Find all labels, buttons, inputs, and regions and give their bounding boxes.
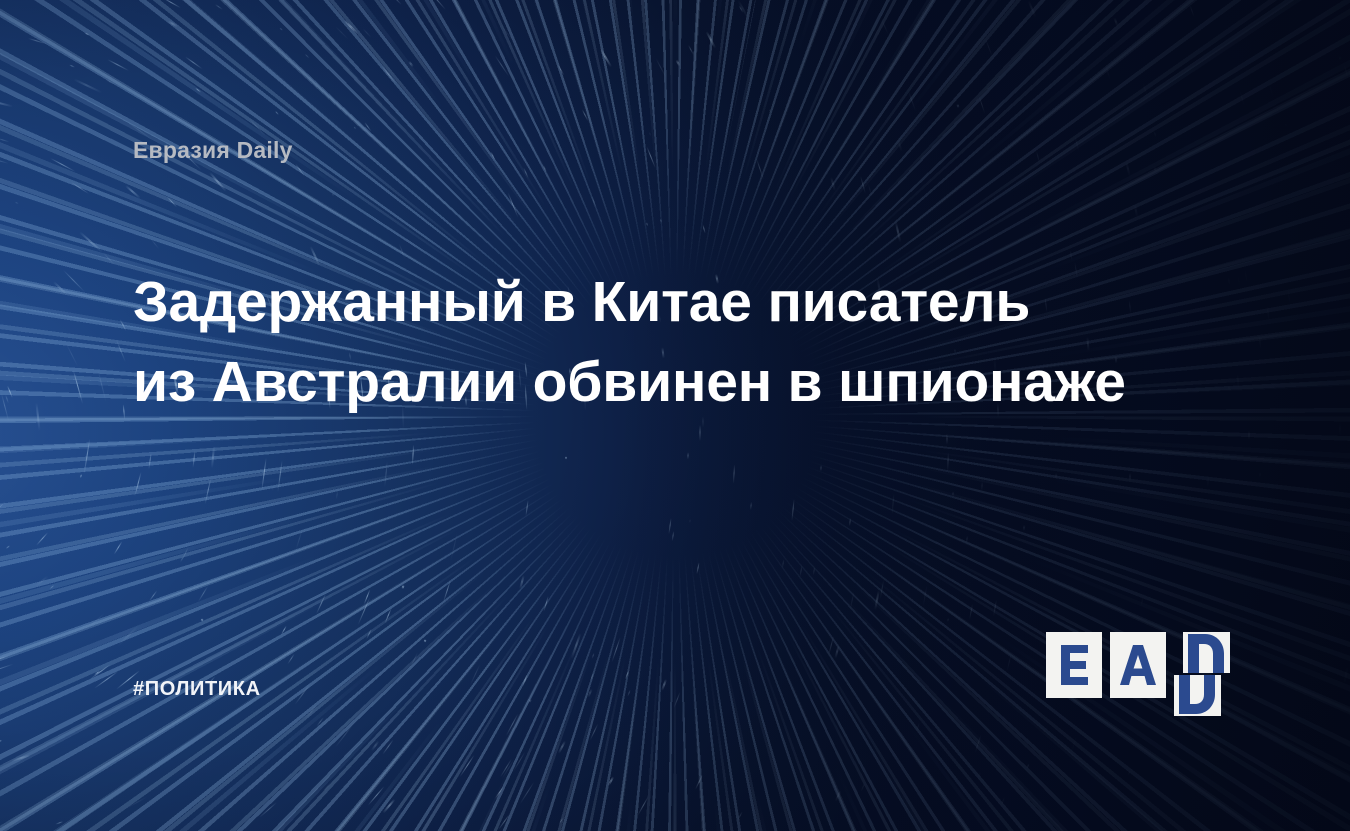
brand-label: Евразия Daily [133,137,293,164]
logo-letter-d-top [1183,632,1230,673]
logo-letter-d [1174,632,1230,716]
headline-line-1: Задержанный в Китае писатель [133,262,1133,342]
category-tag[interactable]: #ПОЛИТИКА [133,678,261,701]
headline-line-2: из Австралии обвинен в шпионаже [133,342,1133,422]
page-title: Задержанный в Китае писатель из Австрали… [133,262,1133,422]
logo-letter-a [1110,632,1166,698]
logo-letter-d-bottom [1174,675,1221,716]
eadaily-logo-icon[interactable] [1046,632,1230,716]
news-card: Евразия Daily Задержанный в Китае писате… [0,0,1350,831]
logo-letter-e [1046,632,1102,698]
